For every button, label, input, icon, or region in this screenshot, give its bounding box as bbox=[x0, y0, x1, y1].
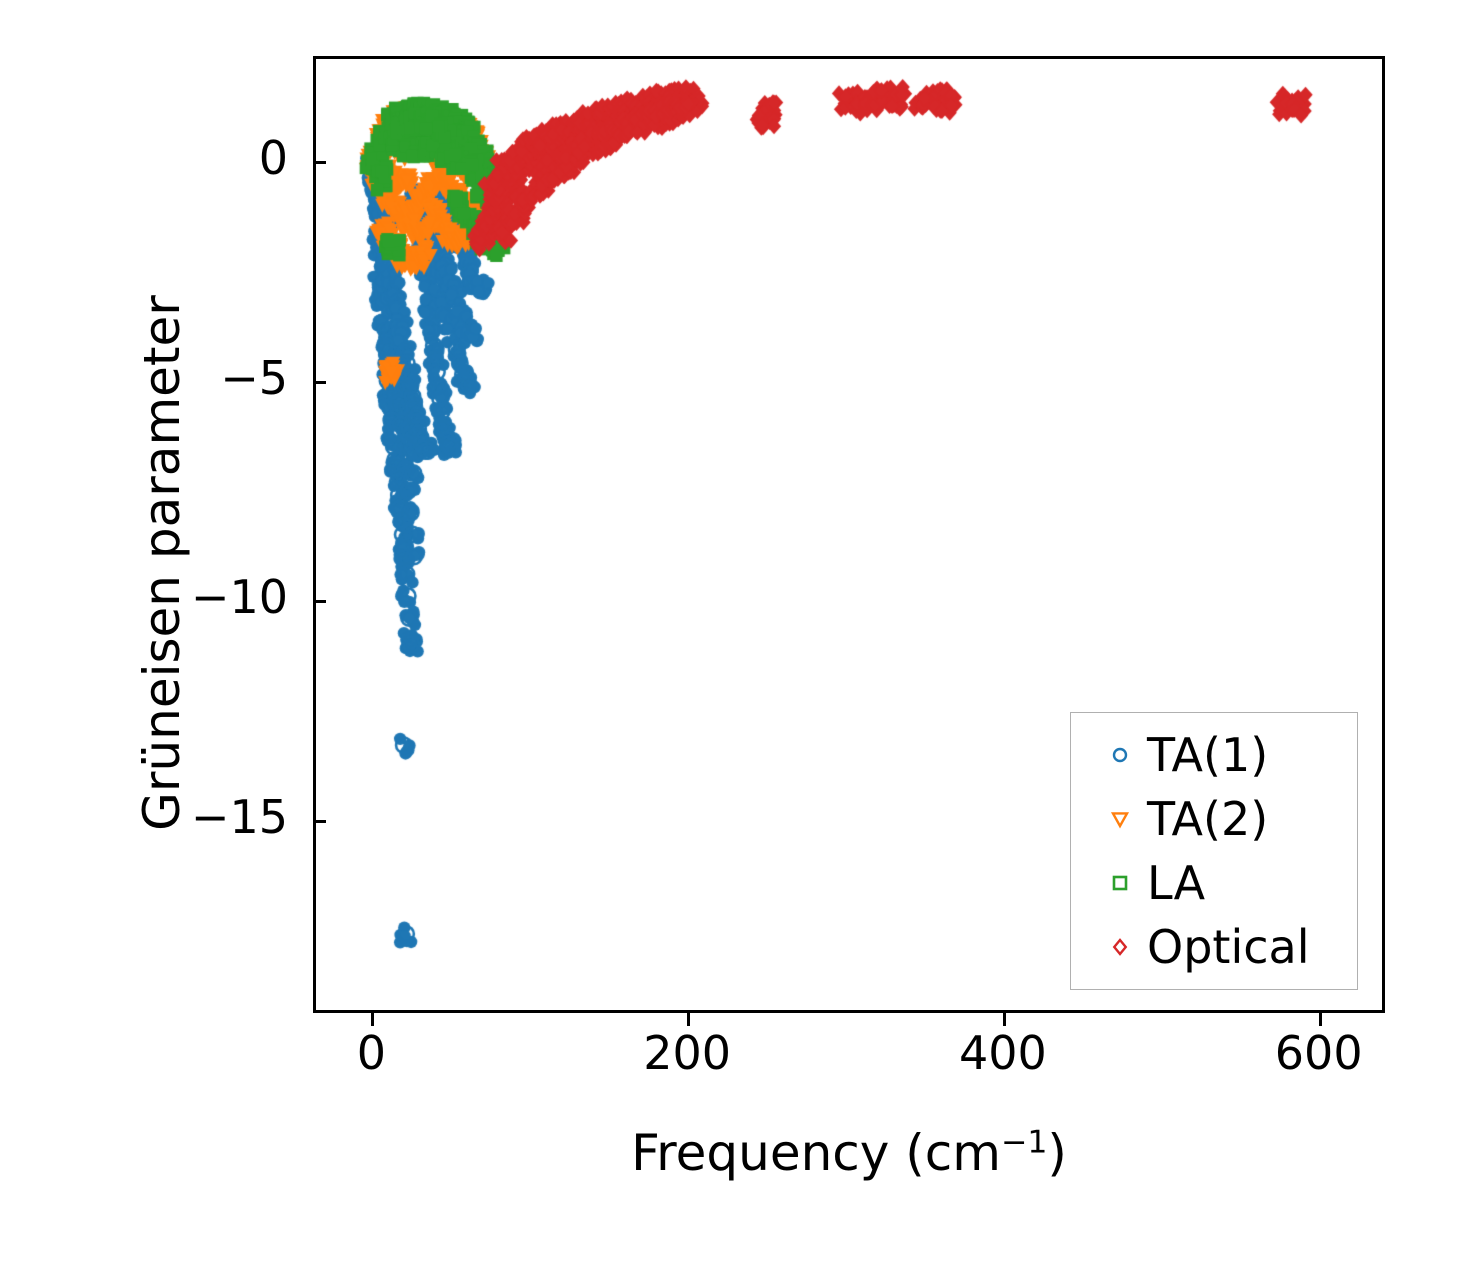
square-icon bbox=[1093, 863, 1147, 903]
y-tick bbox=[313, 820, 326, 823]
x-tick-label: 400 bbox=[923, 1028, 1083, 1079]
y-tick bbox=[313, 381, 326, 384]
legend-item-optical[interactable]: Optical bbox=[1071, 915, 1357, 979]
legend-item-ta1[interactable]: TA(1) bbox=[1071, 723, 1357, 787]
legend-label: Optical bbox=[1147, 924, 1309, 970]
figure-scatter-gruneisen: 0200400600 0−5−10−15 Frequency (cm−1) Gr… bbox=[0, 0, 1475, 1264]
x-axis-label-superscript: −1 bbox=[1001, 1124, 1047, 1160]
legend-item-ta2[interactable]: TA(2) bbox=[1071, 787, 1357, 851]
legend-item-la[interactable]: LA bbox=[1071, 851, 1357, 915]
legend-label: TA(1) bbox=[1147, 732, 1268, 778]
diamond-icon bbox=[1093, 927, 1147, 967]
legend-label: TA(2) bbox=[1147, 796, 1268, 842]
y-axis-label: Grüneisen parameter bbox=[133, 83, 191, 1043]
legend: TA(1)TA(2)LAOptical bbox=[1070, 712, 1358, 990]
x-tick-label: 200 bbox=[607, 1028, 767, 1079]
x-tick-label: 600 bbox=[1239, 1028, 1399, 1079]
x-axis-label: Frequency (cm−1) bbox=[313, 1124, 1385, 1182]
x-tick-label: 0 bbox=[291, 1028, 451, 1079]
x-axis-label-tail: ) bbox=[1047, 1124, 1067, 1182]
x-tick bbox=[1003, 1013, 1006, 1026]
x-tick bbox=[1319, 1013, 1322, 1026]
x-axis-label-base: Frequency (cm bbox=[631, 1124, 1001, 1182]
triangle_down-icon bbox=[1093, 799, 1147, 839]
y-tick bbox=[313, 161, 326, 164]
x-tick bbox=[371, 1013, 374, 1026]
legend-label: LA bbox=[1147, 860, 1205, 906]
y-tick bbox=[313, 600, 326, 603]
x-tick bbox=[687, 1013, 690, 1026]
circle-icon bbox=[1093, 735, 1147, 775]
